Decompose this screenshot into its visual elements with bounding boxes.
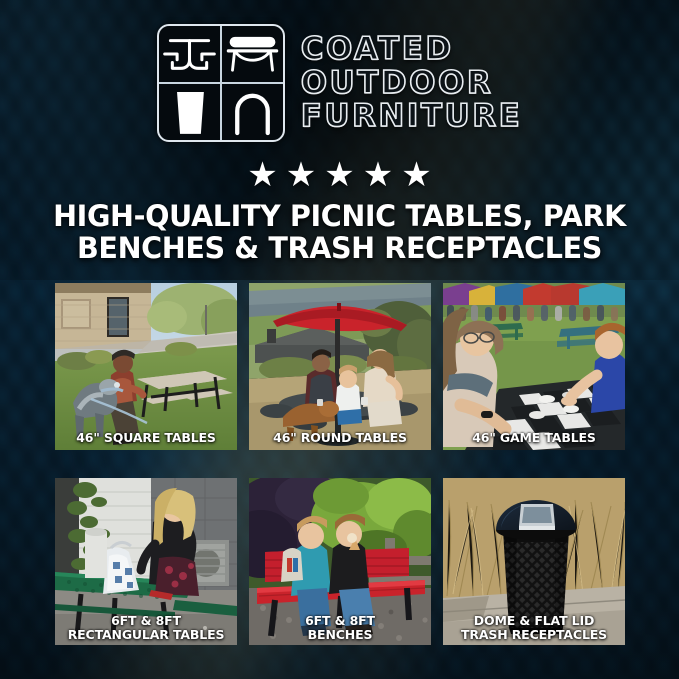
- woman-and-boy-playing-checkers-at-game-table: [443, 283, 625, 450]
- star-icon: ★: [324, 158, 354, 192]
- star-icon: ★: [401, 158, 431, 192]
- tile-caption: 46" SQUARE TABLES: [55, 431, 237, 445]
- headline-line-2: BENCHES & TRASH RECEPTACLES: [43, 232, 636, 264]
- tile-caption: DOME & FLAT LID TRASH RECEPTACLES: [443, 614, 625, 642]
- tile-caption: 46" GAME TABLES: [443, 431, 625, 445]
- brand-logo: COATED OUTDOOR FURNITURE: [0, 24, 679, 142]
- brand-word-3: FURNITURE: [301, 100, 523, 133]
- four-quadrant-furniture-icon: [157, 24, 285, 142]
- product-tile-round-tables[interactable]: 46" ROUND TABLES: [249, 283, 431, 450]
- product-tile-game-tables[interactable]: 46" GAME TABLES: [443, 283, 625, 450]
- picnic-table-front-icon: [159, 26, 221, 83]
- tile-caption: 46" ROUND TABLES: [249, 431, 431, 445]
- woman-with-dog-at-square-picnic-table: [55, 283, 237, 450]
- brand-wordmark: COATED OUTDOOR FURNITURE: [301, 33, 523, 134]
- brand-word-2: OUTDOOR: [301, 67, 523, 100]
- family-at-round-table-with-red-umbrella: [249, 283, 431, 450]
- product-tile-benches[interactable]: 6FT & 8FT BENCHES: [249, 478, 431, 645]
- product-grid: 46" SQUARE TABLES: [55, 283, 625, 645]
- brand-word-1: COATED: [301, 33, 523, 66]
- product-tile-square-tables[interactable]: 46" SQUARE TABLES: [55, 283, 237, 450]
- star-icon: ★: [286, 158, 316, 192]
- tile-caption: 6FT & 8FT RECTANGULAR TABLES: [55, 614, 237, 642]
- product-tile-rectangular-tables[interactable]: 6FT & 8FT RECTANGULAR TABLES: [55, 478, 237, 645]
- bike-rack-arch-icon: [221, 83, 283, 140]
- headline-line-1: HIGH-QUALITY PICNIC TABLES, PARK: [53, 199, 626, 233]
- product-tile-trash-receptacles[interactable]: DOME & FLAT LID TRASH RECEPTACLES: [443, 478, 625, 645]
- star-icon: ★: [247, 158, 277, 192]
- park-bench-side-icon: [221, 26, 283, 83]
- star-rating: ★ ★ ★ ★ ★: [0, 158, 679, 192]
- tile-caption: 6FT & 8FT BENCHES: [249, 614, 431, 642]
- page-headline: HIGH-QUALITY PICNIC TABLES, PARK BENCHES…: [43, 200, 636, 265]
- star-icon: ★: [363, 158, 393, 192]
- trash-receptacle-icon: [159, 83, 221, 140]
